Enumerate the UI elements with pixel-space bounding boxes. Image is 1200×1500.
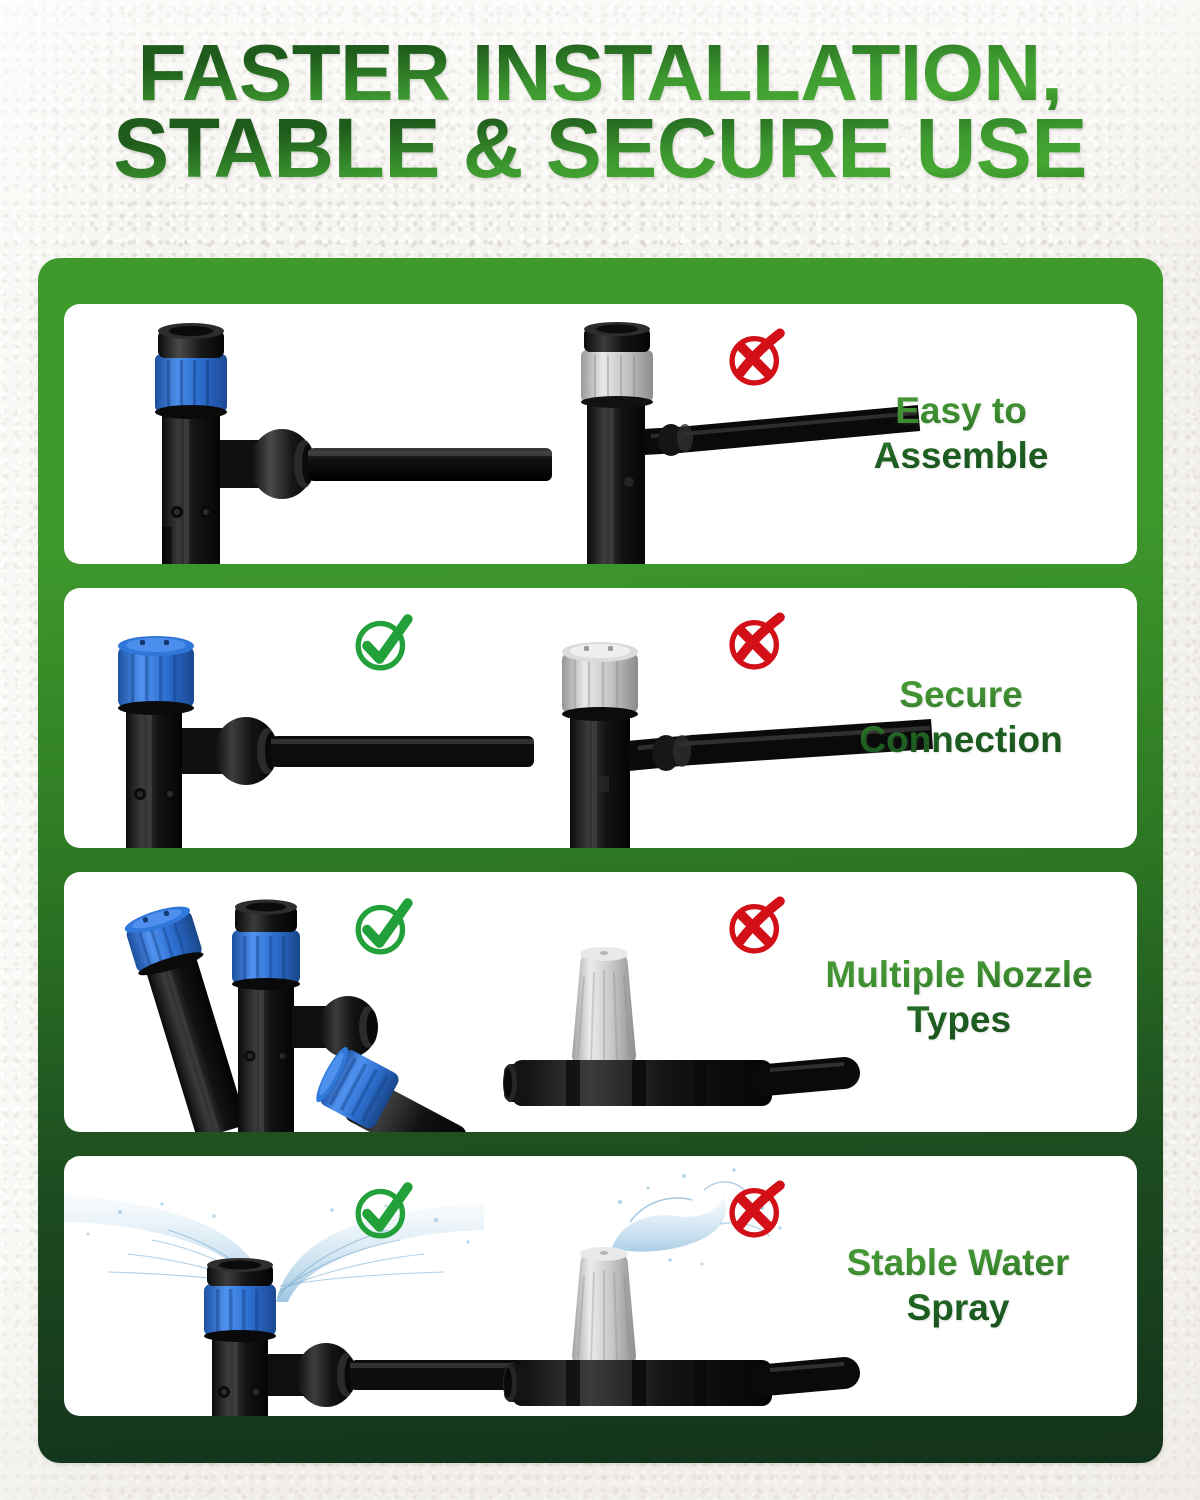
feature-label-line-2: Types — [789, 997, 1129, 1042]
feature-label-multiple-nozzle-types: Multiple Nozzle Types — [789, 952, 1129, 1042]
feature-panel-multiple-nozzle-types: Multiple Nozzle Types — [64, 872, 1137, 1132]
page-title-line-2: STABLE & SECURE USE — [0, 110, 1200, 187]
feature-label-line-2: Connection — [811, 717, 1111, 762]
feature-label-line-2: Spray — [793, 1285, 1123, 1330]
check-icon — [352, 612, 414, 674]
feature-panel-stable-water-spray: Stable Water Spray — [64, 1156, 1137, 1416]
feature-label-easy-to-assemble: Easy to Assemble — [811, 388, 1111, 478]
feature-panel-easy-to-assemble: Easy to Assemble — [64, 304, 1137, 564]
cross-icon — [725, 1180, 787, 1242]
feature-label-line-2: Assemble — [811, 433, 1111, 478]
feature-label-line-1: Easy to — [811, 388, 1111, 433]
product-good-straight-connector — [132, 322, 552, 564]
cross-icon — [725, 612, 787, 674]
feature-label-line-1: Secure — [811, 672, 1111, 717]
product-good-locked-connector — [104, 628, 534, 848]
feature-label-line-1: Stable Water — [793, 1240, 1123, 1285]
product-good-multiple-nozzles — [86, 896, 516, 1132]
feature-label-stable-water-spray: Stable Water Spray — [793, 1240, 1123, 1330]
page-title: FASTER INSTALLATION, STABLE & SECURE USE — [0, 36, 1200, 187]
feature-panel-secure-connection: Secure Connection — [64, 588, 1137, 848]
feature-label-line-1: Multiple Nozzle — [789, 952, 1129, 997]
check-icon — [352, 1180, 414, 1242]
infographic-page: FASTER INSTALLATION, STABLE & SECURE USE — [0, 0, 1200, 1500]
cross-icon — [725, 896, 787, 958]
feature-label-secure-connection: Secure Connection — [811, 672, 1111, 762]
check-icon — [352, 896, 414, 958]
cross-icon — [725, 328, 787, 390]
page-title-line-1: FASTER INSTALLATION, — [0, 36, 1200, 110]
feature-frame: Easy to Assemble — [38, 258, 1163, 1463]
